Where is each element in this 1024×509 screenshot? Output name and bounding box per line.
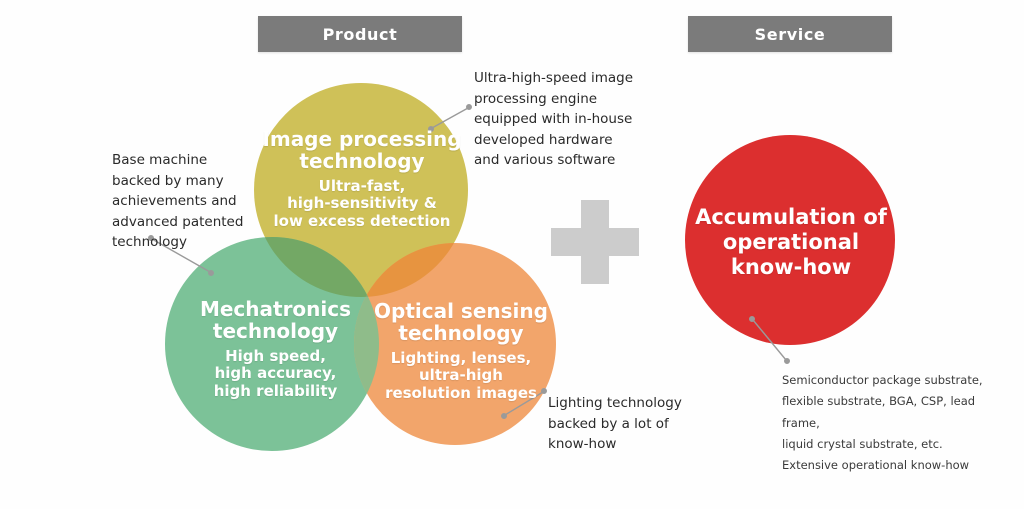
plus-icon bbox=[551, 200, 639, 284]
annotation-semiconductor-substrates: Semiconductor package substrate, flexibl… bbox=[782, 370, 1012, 476]
circle-operational-knowhow[interactable] bbox=[685, 135, 895, 345]
annotation-base-machine: Base machine backed by many achievements… bbox=[112, 150, 248, 253]
annotation-processing-engine: Ultra-high-speed image processing engine… bbox=[474, 68, 654, 171]
annotation-lighting-knowhow: Lighting technology backed by a lot of k… bbox=[548, 393, 708, 455]
plus-icon-vertical-bar bbox=[581, 200, 609, 284]
